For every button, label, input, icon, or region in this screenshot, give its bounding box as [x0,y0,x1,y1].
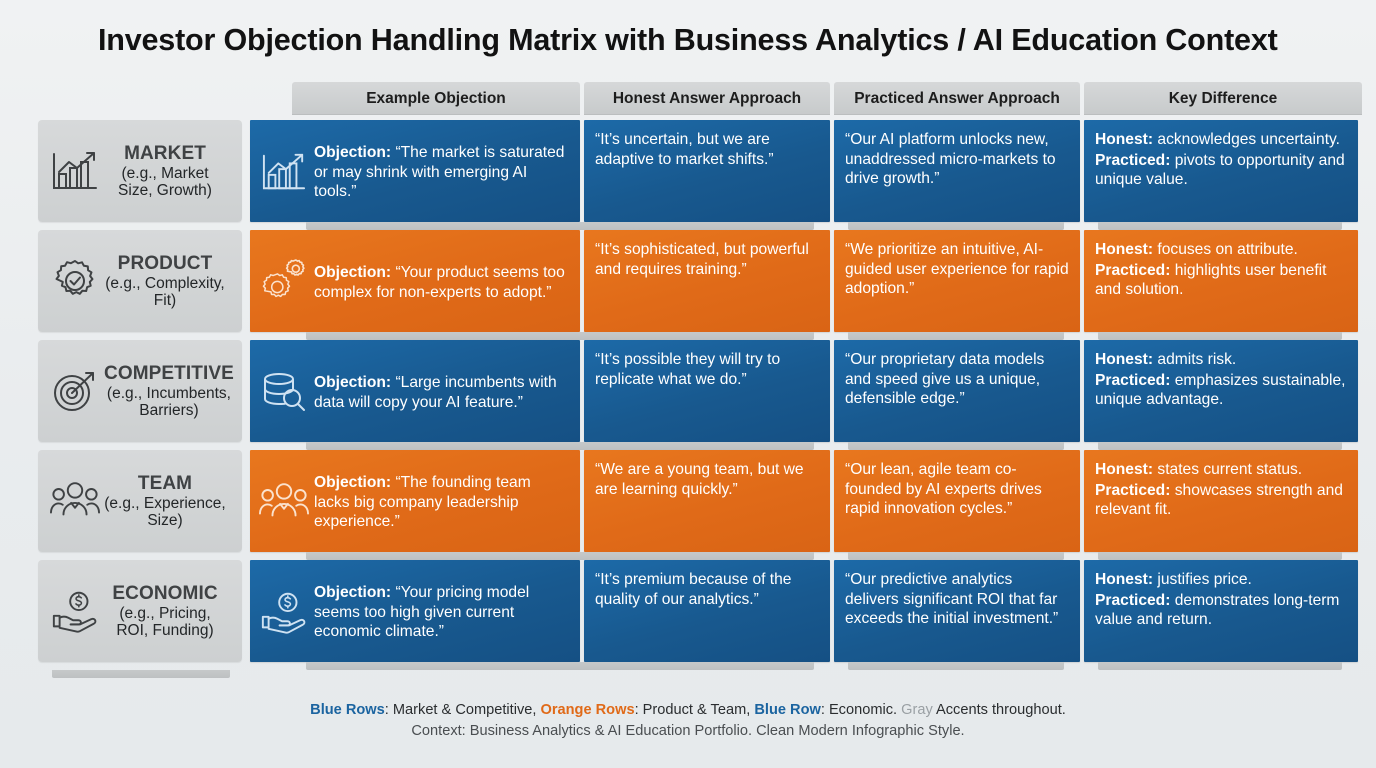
category-name: TEAM [104,473,226,494]
hand-coin-icon [256,584,312,640]
table-row: TEAM (e.g., Experience, Size) Objection:… [38,450,1338,552]
key-honest-line: Honest: justifies price. [1095,570,1347,590]
header-spacer [38,82,250,115]
row-shadow-bars [38,222,1338,230]
row-shadow-bars [38,552,1338,560]
category-text: PRODUCT (e.g., Complexity, Fit) [104,253,230,310]
key-difference-text: Honest: admits risk. Practiced: emphasiz… [1095,350,1347,410]
objection-lead: Objection: [314,264,391,281]
category-name: ECONOMIC [104,583,226,604]
people-team-icon [46,472,104,530]
key-difference-text: Honest: focuses on attribute. Practiced:… [1095,240,1347,300]
legend-gray-value: Accents throughout. [933,702,1066,718]
key-practiced-line: Practiced: pivots to opportunity and uni… [1095,151,1347,190]
practiced-answer-cell-team: “Our lean, agile team co-founded by AI e… [834,450,1080,552]
practiced-answer-cell-product: “We prioritize an intuitive, AI-guided u… [834,230,1080,332]
key-practiced-line: Practiced: showcases strength and releva… [1095,481,1347,520]
category-cell-team: TEAM (e.g., Experience, Size) [38,450,242,552]
objection-text: Objection: “Your product seems too compl… [314,262,569,302]
key-honest-lead: Honest: [1095,571,1153,588]
key-difference-cell-economic: Honest: justifies price. Practiced: demo… [1084,560,1358,662]
key-honest-value: states current status. [1157,461,1302,478]
objection-text: Objection: “The founding team lacks big … [314,472,569,532]
table-row: COMPETITIVE (e.g., Incumbents, Barriers)… [38,340,1338,442]
objection-text: Objection: “Your pricing model seems too… [314,582,569,642]
objection-lead: Objection: [314,374,391,391]
key-honest-lead: Honest: [1095,461,1153,478]
footer-legend: Blue Rows: Market & Competitive, Orange … [0,700,1376,742]
column-header-example-objection: Example Objection [292,82,580,115]
objection-cell-product: Objection: “Your product seems too compl… [250,230,580,332]
objection-text: Objection: “Large incumbents with data w… [314,372,569,412]
key-honest-line: Honest: focuses on attribute. [1095,240,1347,260]
footer-legend-line: Blue Rows: Market & Competitive, Orange … [0,700,1376,721]
objection-cell-market: Objection: “The market is saturated or m… [250,120,580,222]
column-header-honest-answer: Honest Answer Approach [584,82,830,115]
key-honest-lead: Honest: [1095,131,1153,148]
title-bar: Investor Objection Handling Matrix with … [0,0,1376,72]
category-cell-economic: ECONOMIC (e.g., Pricing, ROI, Funding) [38,560,242,662]
objection-cell-team: Objection: “The founding team lacks big … [250,450,580,552]
category-subtitle: (e.g., Experience, Size) [104,495,226,530]
key-difference-text: Honest: acknowledges uncertainty. Practi… [1095,130,1347,190]
page-title: Investor Objection Handling Matrix with … [98,22,1278,58]
table-row: PRODUCT (e.g., Complexity, Fit) [38,230,1338,332]
category-cell-product: PRODUCT (e.g., Complexity, Fit) [38,230,242,332]
people-team-icon [256,474,312,530]
honest-answer-cell-team: “We are a young team, but we are learnin… [584,450,830,552]
key-honest-value: focuses on attribute. [1157,241,1297,258]
key-honest-line: Honest: admits risk. [1095,350,1347,370]
category-name: PRODUCT [104,253,226,274]
hand-coin-icon [46,582,104,640]
category-text: MARKET (e.g., Market Size, Growth) [104,143,230,200]
key-difference-cell-product: Honest: focuses on attribute. Practiced:… [1084,230,1358,332]
row-shadow-bars [38,662,1338,670]
practiced-answer-cell-competitive: “Our proprietary data models and speed g… [834,340,1080,442]
key-honest-value: acknowledges uncertainty. [1157,131,1340,148]
legend-blue-rows-label: Blue Rows [310,702,385,718]
key-honest-lead: Honest: [1095,241,1153,258]
key-practiced-line: Practiced: demonstrates long-term value … [1095,591,1347,630]
legend-blue-rows-value: : Market & Competitive, [385,702,541,718]
key-difference-cell-competitive: Honest: admits risk. Practiced: emphasiz… [1084,340,1358,442]
practiced-answer-cell-market: “Our AI platform unlocks new, unaddresse… [834,120,1080,222]
objection-cell-competitive: Objection: “Large incumbents with data w… [250,340,580,442]
category-cell-competitive: COMPETITIVE (e.g., Incumbents, Barriers) [38,340,242,442]
key-practiced-lead: Practiced: [1095,592,1170,609]
legend-blue-row-label: Blue Row [754,702,820,718]
category-name: COMPETITIVE [104,363,234,384]
matrix-header-row: Example Objection Honest Answer Approach… [38,82,1338,115]
honest-answer-cell-market: “It’s uncertain, but we are adaptive to … [584,120,830,222]
key-practiced-lead: Practiced: [1095,262,1170,279]
honest-answer-cell-economic: “It’s premium because of the quality of … [584,560,830,662]
table-row: MARKET (e.g., Market Size, Growth) Objec… [38,120,1338,222]
key-difference-text: Honest: states current status. Practiced… [1095,460,1347,520]
column-header-key-difference: Key Difference [1084,82,1362,115]
key-honest-line: Honest: states current status. [1095,460,1347,480]
key-practiced-lead: Practiced: [1095,482,1170,499]
category-subtitle: (e.g., Complexity, Fit) [104,275,226,310]
key-practiced-line: Practiced: emphasizes sustainable, uniqu… [1095,371,1347,410]
table-row: ECONOMIC (e.g., Pricing, ROI, Funding) O… [38,560,1338,662]
category-text: ECONOMIC (e.g., Pricing, ROI, Funding) [104,583,230,640]
header-spacer-2 [250,82,292,115]
key-honest-line: Honest: acknowledges uncertainty. [1095,130,1347,150]
honest-answer-cell-product: “It’s sophisticated, but powerful and re… [584,230,830,332]
key-practiced-line: Practiced: highlights user benefit and s… [1095,261,1347,300]
objection-cell-economic: Objection: “Your pricing model seems too… [250,560,580,662]
database-search-icon [256,364,312,420]
honest-answer-cell-competitive: “It’s possible they will try to replicat… [584,340,830,442]
column-header-practiced-answer: Practiced Answer Approach [834,82,1080,115]
key-honest-lead: Honest: [1095,351,1153,368]
category-text: COMPETITIVE (e.g., Incumbents, Barriers) [104,363,238,420]
bar-chart-growth-icon [256,144,312,200]
objection-text: Objection: “The market is saturated or m… [314,142,569,202]
objection-lead: Objection: [314,584,391,601]
practiced-answer-cell-economic: “Our predictive analytics delivers signi… [834,560,1080,662]
legend-orange-rows-label: Orange Rows [541,702,635,718]
bar-chart-growth-icon [46,142,104,200]
gears-icon [256,254,312,310]
target-dart-icon [46,362,104,420]
legend-blue-row-value: : Economic. [821,702,901,718]
key-difference-cell-team: Honest: states current status. Practiced… [1084,450,1358,552]
key-honest-value: justifies price. [1157,571,1251,588]
legend-orange-rows-value: : Product & Team, [635,702,755,718]
category-text: TEAM (e.g., Experience, Size) [104,473,230,530]
objection-matrix: Example Objection Honest Answer Approach… [38,82,1338,670]
key-difference-cell-market: Honest: acknowledges uncertainty. Practi… [1084,120,1358,222]
key-difference-text: Honest: justifies price. Practiced: demo… [1095,570,1347,630]
row-shadow-bars [38,332,1338,340]
objection-lead: Objection: [314,144,391,161]
gear-check-icon [46,252,104,310]
category-cell-market: MARKET (e.g., Market Size, Growth) [38,120,242,222]
key-practiced-lead: Practiced: [1095,372,1170,389]
key-honest-value: admits risk. [1157,351,1236,368]
category-subtitle: (e.g., Pricing, ROI, Funding) [104,605,226,640]
category-subtitle: (e.g., Market Size, Growth) [104,165,226,200]
footer-context-line: Context: Business Analytics & AI Educati… [0,721,1376,742]
objection-lead: Objection: [314,474,391,491]
category-subtitle: (e.g., Incumbents, Barriers) [104,385,234,420]
legend-gray-label: Gray [901,702,933,718]
row-shadow-bars [38,442,1338,450]
key-practiced-lead: Practiced: [1095,152,1170,169]
category-name: MARKET [104,143,226,164]
